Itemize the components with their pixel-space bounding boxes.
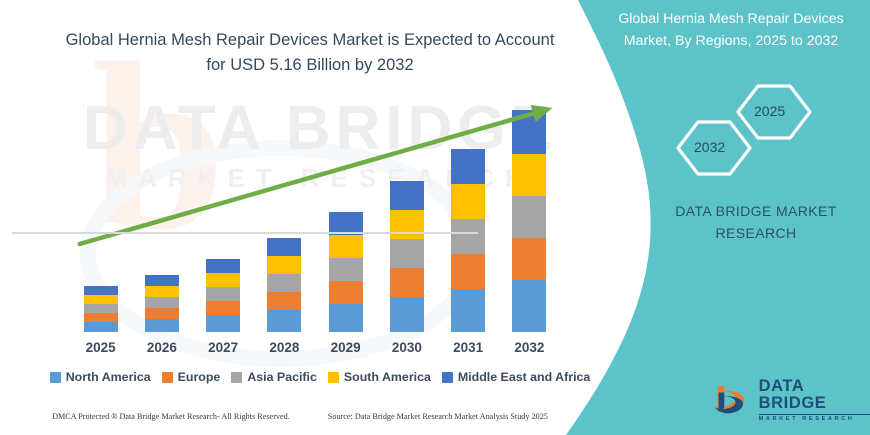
legend-swatch-icon	[231, 372, 242, 383]
chart-axis-line	[12, 232, 478, 234]
chart-bar-segment	[145, 297, 179, 308]
chart-bar	[451, 149, 485, 332]
chart-x-label: 2030	[377, 340, 437, 355]
chart-bar	[84, 286, 118, 332]
legend-item[interactable]: North America	[50, 370, 151, 384]
legend-item[interactable]: South America	[328, 370, 431, 384]
chart-bar	[206, 259, 240, 332]
chart-bar-segment	[145, 286, 179, 297]
company-logo: DATA BRIDGE MARKET RESEARCH	[712, 378, 870, 423]
stacked-bar-chart	[70, 100, 560, 340]
chart-bar-segment	[451, 184, 485, 219]
chart-bar-segment	[390, 239, 424, 268]
chart-x-label: 2029	[316, 340, 376, 355]
chart-bar-segment	[329, 258, 363, 281]
chart-x-label: 2027	[193, 340, 253, 355]
footer-dmca: DMCA Protected ® Data Bridge Market Rese…	[52, 412, 290, 421]
chart-bar-segment	[206, 315, 240, 332]
legend-item[interactable]: Europe	[162, 370, 221, 384]
chart-bar-segment	[512, 196, 546, 238]
chart-bar-segment	[329, 304, 363, 332]
chart-bar	[390, 181, 424, 332]
hexagon-2032-label: 2032	[694, 139, 725, 155]
chart-bar-segment	[206, 301, 240, 315]
hexagon-2025-label: 2025	[754, 103, 785, 119]
chart-bar-segment	[390, 297, 424, 332]
chart-bar-segment	[512, 110, 546, 154]
chart-plot-area	[70, 100, 560, 332]
chart-bar-segment	[145, 319, 179, 332]
chart-bar-segment	[451, 289, 485, 332]
chart-bar-segment	[512, 280, 546, 332]
chart-bar-segment	[84, 304, 118, 313]
hexagon-badges: 2025 2032	[660, 82, 840, 182]
chart-x-axis-labels: 20252026202720282029203020312032	[70, 340, 560, 362]
legend-label: South America	[344, 370, 431, 384]
chart-bar	[145, 275, 179, 332]
footer: DMCA Protected ® Data Bridge Market Rese…	[0, 412, 600, 421]
chart-bar-segment	[206, 273, 240, 287]
chart-x-label: 2025	[71, 340, 131, 355]
chart-bar-segment	[145, 275, 179, 286]
chart-bar-segment	[267, 256, 301, 274]
chart-bar-segment	[512, 154, 546, 196]
legend-swatch-icon	[328, 372, 339, 383]
chart-bar-segment	[84, 286, 118, 295]
brand-name: DATA BRIDGE MARKET RESEARCH	[640, 200, 870, 245]
chart-x-label: 2032	[499, 340, 559, 355]
chart-bar	[267, 238, 301, 332]
chart-bar-segment	[267, 292, 301, 310]
chart-bar-segment	[390, 268, 424, 297]
logo-subtitle: MARKET RESEARCH	[759, 414, 870, 423]
chart-bar-segment	[267, 310, 301, 332]
chart-bar-segment	[84, 313, 118, 322]
chart-bar-segment	[390, 181, 424, 210]
legend-label: North America	[66, 370, 151, 384]
legend-swatch-icon	[162, 372, 173, 383]
legend-label: Middle East and Africa	[458, 370, 590, 384]
chart-x-label: 2031	[438, 340, 498, 355]
legend-item[interactable]: Middle East and Africa	[442, 370, 590, 384]
page-title: Global Hernia Mesh Repair Devices Market…	[60, 28, 560, 78]
chart-bar-segment	[329, 281, 363, 304]
logo-mark-icon	[712, 382, 752, 418]
chart-bar-segment	[390, 210, 424, 239]
panel-title: Global Hernia Mesh Repair Devices Market…	[600, 8, 862, 52]
legend-label: Asia Pacific	[247, 370, 317, 384]
chart-bar-segment	[451, 149, 485, 184]
chart-bar-segment	[145, 308, 179, 319]
legend-swatch-icon	[50, 372, 61, 383]
chart-bar-segment	[512, 238, 546, 280]
chart-bar-segment	[451, 219, 485, 254]
legend-swatch-icon	[442, 372, 453, 383]
legend-label: Europe	[178, 370, 221, 384]
chart-bar-segment	[206, 259, 240, 273]
chart-bar-segment	[206, 287, 240, 301]
chart-bar	[329, 212, 363, 332]
chart-bar-segment	[267, 274, 301, 292]
legend-item[interactable]: Asia Pacific	[231, 370, 317, 384]
chart-bar-segment	[84, 322, 118, 332]
chart-bar-segment	[329, 235, 363, 258]
infographic-canvas: b DATA BRIDGE MARKET RESEARCH Global Her…	[0, 0, 870, 435]
chart-bar-segment	[451, 254, 485, 289]
chart-x-label: 2028	[254, 340, 314, 355]
footer-source: Source: Data Bridge Market Research Mark…	[328, 412, 548, 421]
chart-legend: North AmericaEuropeAsia PacificSouth Ame…	[70, 370, 570, 384]
logo-title: DATA BRIDGE	[759, 378, 870, 411]
chart-bar-segment	[267, 238, 301, 256]
chart-bar-segment	[84, 295, 118, 304]
chart-bar	[512, 110, 546, 332]
chart-x-label: 2026	[132, 340, 192, 355]
